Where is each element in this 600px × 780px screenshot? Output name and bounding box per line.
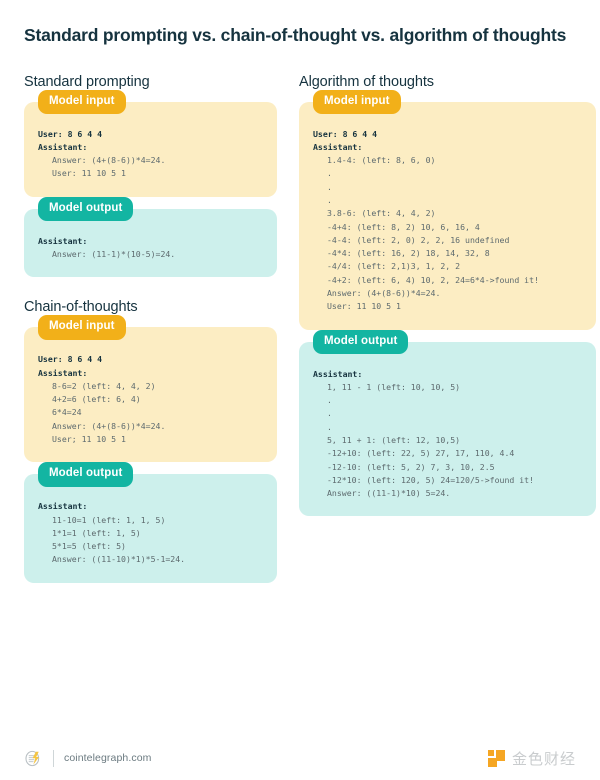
model-input-badge: Model input xyxy=(313,90,401,115)
code-header: User: 8 6 4 4 Assistant: xyxy=(38,129,102,152)
standard-prompting-input-code: User: 8 6 4 4 Assistant: Answer: (4+(8-6… xyxy=(38,128,263,181)
source-url: cointelegraph.com xyxy=(64,752,152,764)
infographic-page: Standard prompting vs. chain-of-thought … xyxy=(0,0,600,780)
code-header: User: 8 6 4 4 Assistant: xyxy=(313,129,377,152)
model-output-badge: Model output xyxy=(38,197,133,222)
code-header: Assistant: xyxy=(313,369,362,379)
chain-of-thoughts-model-input-card: Model input User: 8 6 4 4 Assistant: 8-6… xyxy=(24,327,277,462)
code-header: Assistant: xyxy=(38,501,87,511)
footer-divider xyxy=(53,750,54,767)
jinse-logo-icon xyxy=(488,750,505,767)
code-body: 11-10=1 (left: 1, 1, 5) 1*1=1 (left: 1, … xyxy=(38,514,263,567)
standard-prompting-model-input-card: Model input User: 8 6 4 4 Assistant: Ans… xyxy=(24,102,277,197)
code-body: Answer: (4+(8-6))*4=24. User: 11 10 5 1 xyxy=(38,154,263,181)
chain-of-thoughts-output-code: Assistant: 11-10=1 (left: 1, 1, 5) 1*1=1… xyxy=(38,500,263,566)
model-input-badge: Model input xyxy=(38,90,126,115)
footer: cointelegraph.com 金色财经 xyxy=(0,736,600,780)
section-heading-standard-prompting: Standard prompting xyxy=(24,74,277,90)
code-body: 8-6=2 (left: 4, 4, 2) 4+2=6 (left: 6, 4)… xyxy=(38,380,263,446)
section-heading-algorithm-of-thoughts: Algorithm of thoughts xyxy=(299,74,596,90)
right-column: Algorithm of thoughts Model input User: … xyxy=(299,74,596,517)
left-column: Standard prompting Model input User: 8 6… xyxy=(24,74,277,583)
page-title: Standard prompting vs. chain-of-thought … xyxy=(24,24,576,48)
standard-prompting-model-output-card: Model output Assistant: Answer: (11-1)*(… xyxy=(24,209,277,278)
content-columns: Standard prompting Model input User: 8 6… xyxy=(24,74,576,583)
code-body: Answer: (11-1)*(10-5)=24. xyxy=(38,248,263,261)
code-header: Assistant: xyxy=(38,236,87,246)
model-output-badge: Model output xyxy=(38,462,133,487)
algorithm-of-thoughts-model-input-card: Model input User: 8 6 4 4 Assistant: 1.4… xyxy=(299,102,596,330)
code-header: User: 8 6 4 4 Assistant: xyxy=(38,354,102,377)
model-input-badge: Model input xyxy=(38,315,126,340)
standard-prompting-output-code: Assistant: Answer: (11-1)*(10-5)=24. xyxy=(38,235,263,262)
cointelegraph-brand: cointelegraph.com xyxy=(24,749,152,768)
algorithm-of-thoughts-model-output-card: Model output Assistant: 1, 11 - 1 (left:… xyxy=(299,342,596,517)
publisher-name: 金色财经 xyxy=(512,748,576,769)
model-output-badge: Model output xyxy=(313,330,408,355)
cointelegraph-logo-icon xyxy=(24,749,43,768)
code-body: 1, 11 - 1 (left: 10, 10, 5) . . . 5, 11 … xyxy=(313,381,582,501)
algorithm-of-thoughts-input-code: User: 8 6 4 4 Assistant: 1.4-4: (left: 8… xyxy=(313,128,582,314)
algorithm-of-thoughts-output-code: Assistant: 1, 11 - 1 (left: 10, 10, 5) .… xyxy=(313,368,582,501)
chain-of-thoughts-input-code: User: 8 6 4 4 Assistant: 8-6=2 (left: 4,… xyxy=(38,353,263,446)
publisher-brand: 金色财经 xyxy=(488,748,576,769)
chain-of-thoughts-model-output-card: Model output Assistant: 11-10=1 (left: 1… xyxy=(24,474,277,582)
code-body: 1.4-4: (left: 8, 6, 0) . . . 3.8-6: (lef… xyxy=(313,154,582,313)
section-heading-chain-of-thoughts: Chain-of-thoughts xyxy=(24,299,277,315)
